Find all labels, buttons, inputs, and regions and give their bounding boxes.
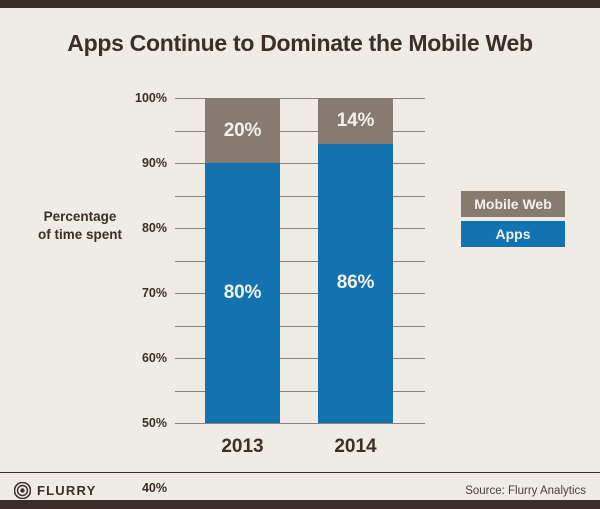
y-axis-caption-line-1: Percentage [20,208,140,226]
plot-area: 0%10%20%30%40%50%60%70%80%90%100% 80%20%… [175,98,425,423]
x-axis-tick-label: 2013 [205,436,280,458]
flurry-target-icon [14,482,31,499]
bar-segment-mobile-web[interactable]: 20% [205,98,280,163]
bar-value-label: 14% [337,110,374,132]
page-title: Apps Continue to Dominate the Mobile Web [0,30,600,57]
chart-legend: Mobile WebApps [461,191,565,251]
brand: FLURRY [14,482,96,499]
bar-segment-mobile-web[interactable]: 14% [318,98,393,144]
legend-item-apps[interactable]: Apps [461,221,565,247]
y-axis-tick-label: 100% [135,91,167,105]
bar-segment-apps[interactable]: 86% [318,144,393,424]
legend-item-mobile-web[interactable]: Mobile Web [461,191,565,217]
y-axis-caption: Percentage of time spent [20,208,140,244]
y-axis-tick-label: 90% [142,156,167,170]
y-axis-caption-line-2: of time spent [20,226,140,244]
gridline: 0% [175,423,425,424]
y-axis-tick-label: 70% [142,286,167,300]
bar-group[interactable]: 80%20%2013 [205,98,280,423]
legend-item-label: Apps [496,226,531,242]
legend-item-label: Mobile Web [474,196,552,212]
bar-value-label: 20% [224,120,261,142]
bar-value-label: 86% [337,272,374,294]
bar-value-label: 80% [224,282,261,304]
footer: FLURRY Source: Flurry Analytics [0,473,600,508]
y-axis-tick-label: 50% [142,416,167,430]
bar-group[interactable]: 86%14%2014 [318,98,393,423]
x-axis-tick-label: 2014 [318,436,393,458]
source-label: Source: Flurry Analytics [465,485,586,497]
brand-name: FLURRY [37,483,96,498]
y-axis-tick-label: 60% [142,351,167,365]
y-axis-tick-label: 80% [142,221,167,235]
chart-page: Apps Continue to Dominate the Mobile Web… [0,0,600,509]
bar-segment-apps[interactable]: 80% [205,163,280,423]
